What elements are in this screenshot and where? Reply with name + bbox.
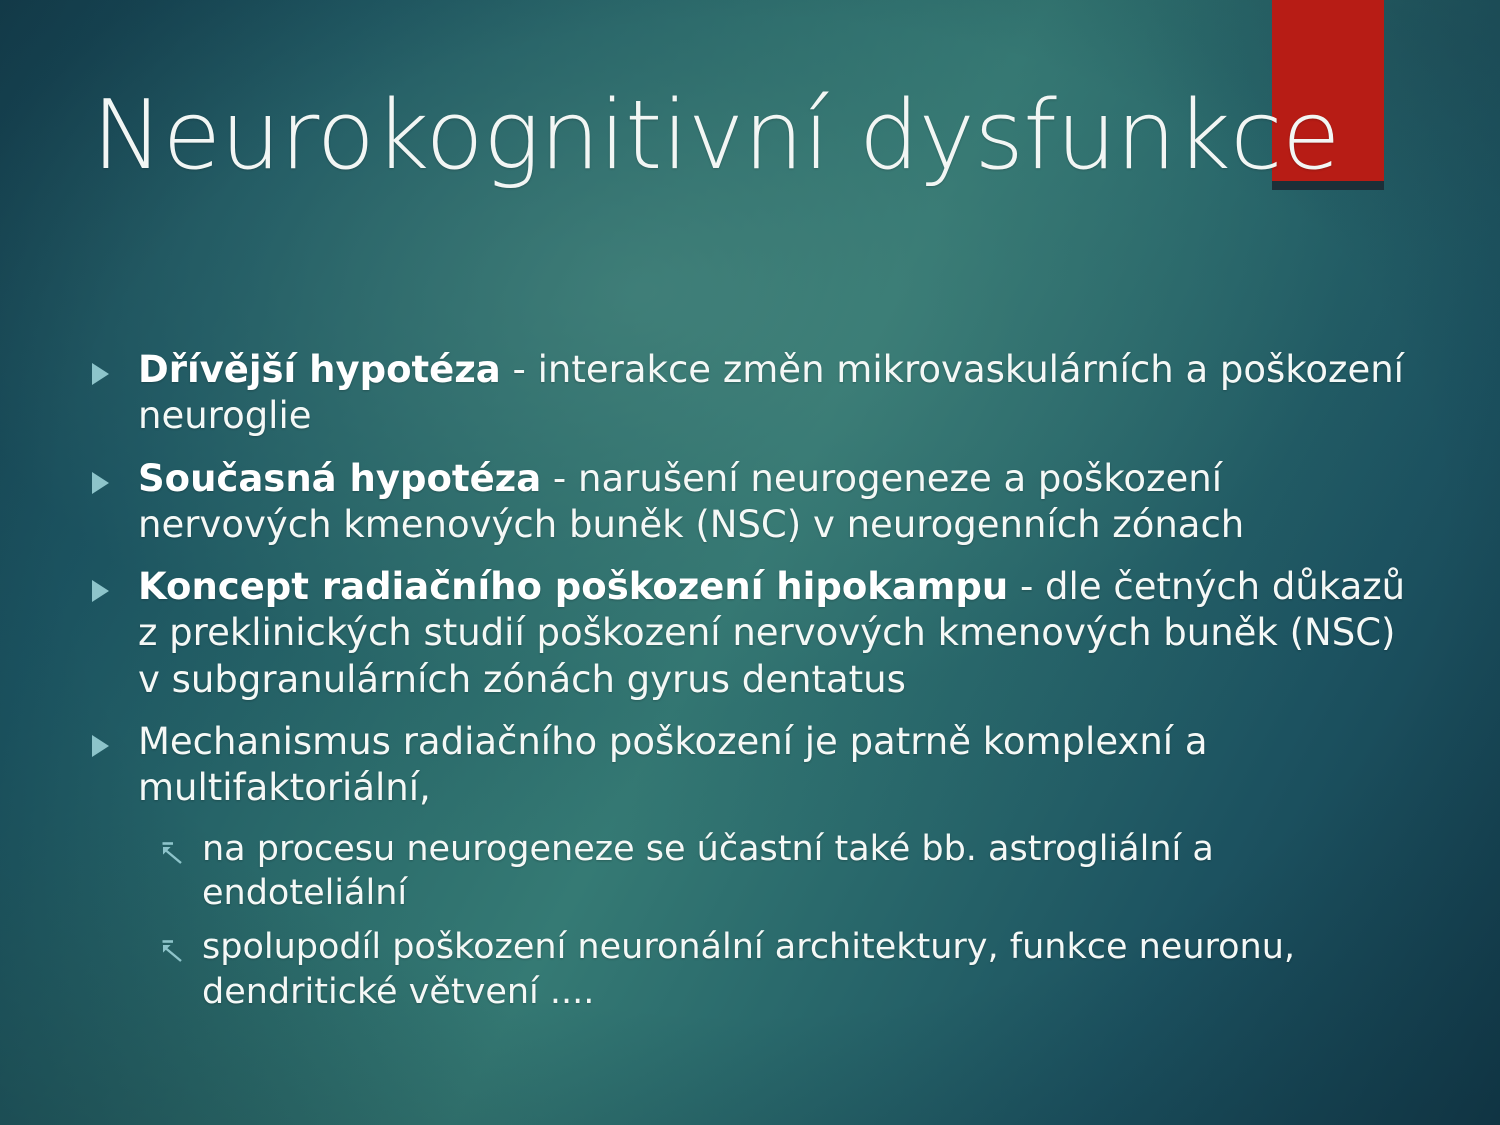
arrow-up-left-icon (160, 827, 202, 867)
bullet-text: Koncept radiačního poškození hipokampu -… (138, 564, 1418, 703)
slide-body-content: Dřívější hypotéza - interakce změn mikro… (88, 347, 1418, 1024)
bullet-lead-term: Dřívější hypotéza (138, 348, 501, 391)
bullet-text: Dřívější hypotéza - interakce změn mikro… (138, 347, 1418, 440)
presentation-slide: Neurokognitivní dysfunkce Dřívější hypot… (0, 0, 1500, 1125)
bullet-lead-term: Současná hypotéza (138, 457, 541, 500)
bullet-item: Koncept radiačního poškození hipokampu -… (88, 564, 1418, 703)
triangle-right-icon (88, 456, 138, 497)
bullet-lead-term: Koncept radiačního poškození hipokampu (138, 565, 1008, 608)
bullet-body-text: Mechanismus radiačního poškození je patr… (138, 720, 1208, 809)
bullet-text: Současná hypotéza - narušení neurogeneze… (138, 456, 1418, 549)
bullet-item: na procesu neurogeneze se účastní také b… (88, 827, 1418, 915)
arrow-up-left-icon (160, 925, 202, 965)
bullet-body-text: spolupodíl poškození neuronální architek… (202, 927, 1295, 1011)
bullet-item: spolupodíl poškození neuronální architek… (88, 925, 1418, 1013)
bullet-item: Mechanismus radiačního poškození je patr… (88, 719, 1418, 812)
triangle-right-icon (88, 719, 138, 760)
bullet-text: na procesu neurogeneze se účastní také b… (202, 827, 1418, 915)
triangle-right-icon (88, 347, 138, 388)
slide-title: Neurokognitivní dysfunkce (92, 85, 1272, 188)
bullet-item: Dřívější hypotéza - interakce změn mikro… (88, 347, 1418, 440)
bullet-text: Mechanismus radiačního poškození je patr… (138, 719, 1418, 812)
bullet-text: spolupodíl poškození neuronální architek… (202, 925, 1418, 1013)
bullet-item: Současná hypotéza - narušení neurogeneze… (88, 456, 1418, 549)
bullet-body-text: na procesu neurogeneze se účastní také b… (202, 829, 1214, 913)
triangle-right-icon (88, 564, 138, 605)
